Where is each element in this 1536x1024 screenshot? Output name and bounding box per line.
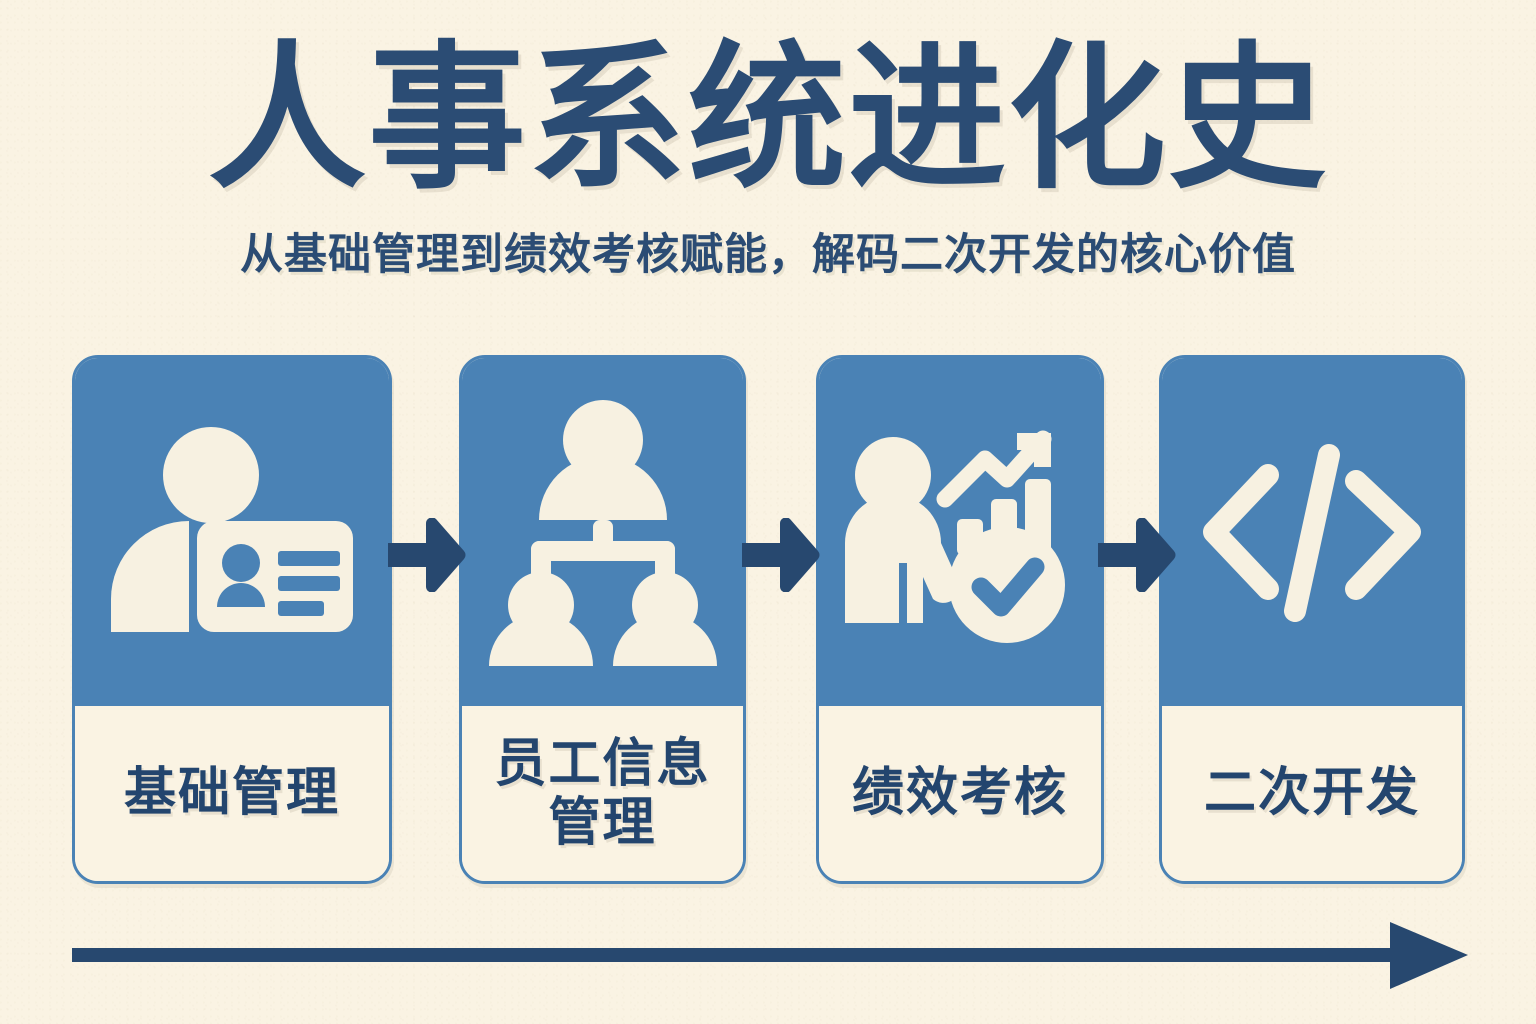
flow-step-label-3: 绩效考核 [852, 764, 1068, 822]
person-growth-chart-check-icon [835, 417, 1085, 647]
person-id-card-icon [107, 417, 357, 647]
code-brackets-icon [1196, 441, 1428, 623]
timeline-arrow-icon [72, 918, 1468, 994]
flow-step-card-4[interactable]: 二次开发 [1159, 355, 1465, 884]
card-icon-area-4 [1162, 358, 1462, 706]
card-label-area-3: 绩效考核 [819, 706, 1101, 881]
infographic-canvas: 人事系统进化史 从基础管理到绩效考核赋能，解码二次开发的核心价值 [0, 0, 1536, 1024]
page-subtitle: 从基础管理到绩效考核赋能，解码二次开发的核心价值 [0, 232, 1536, 279]
right-arrow-icon [742, 518, 820, 592]
card-label-area-2: 员工信息 管理 [462, 706, 743, 881]
page-title: 人事系统进化史 [0, 38, 1536, 201]
flow-step-card-1[interactable]: 基础管理 [72, 355, 392, 884]
evolution-flow: 基础管理 [0, 355, 1536, 885]
flow-connector-arrow-2 [742, 518, 820, 592]
right-arrow-icon [1098, 518, 1176, 592]
card-icon-area-3 [819, 358, 1101, 706]
flow-step-card-2[interactable]: 员工信息 管理 [459, 355, 746, 884]
card-icon-area-1 [75, 358, 389, 706]
flow-step-label-1: 基础管理 [124, 764, 340, 822]
flow-step-card-3[interactable]: 绩效考核 [816, 355, 1104, 884]
card-label-area-1: 基础管理 [75, 706, 389, 881]
timeline-axis [72, 918, 1468, 994]
flow-step-label-4: 二次开发 [1204, 764, 1420, 822]
flow-connector-arrow-1 [388, 518, 466, 592]
flow-step-label-2: 员工信息 管理 [494, 735, 710, 851]
card-label-area-4: 二次开发 [1162, 706, 1462, 881]
flow-connector-arrow-3 [1098, 518, 1176, 592]
org-chart-people-icon [489, 398, 717, 666]
right-arrow-icon [388, 518, 466, 592]
card-icon-area-2 [462, 358, 743, 706]
